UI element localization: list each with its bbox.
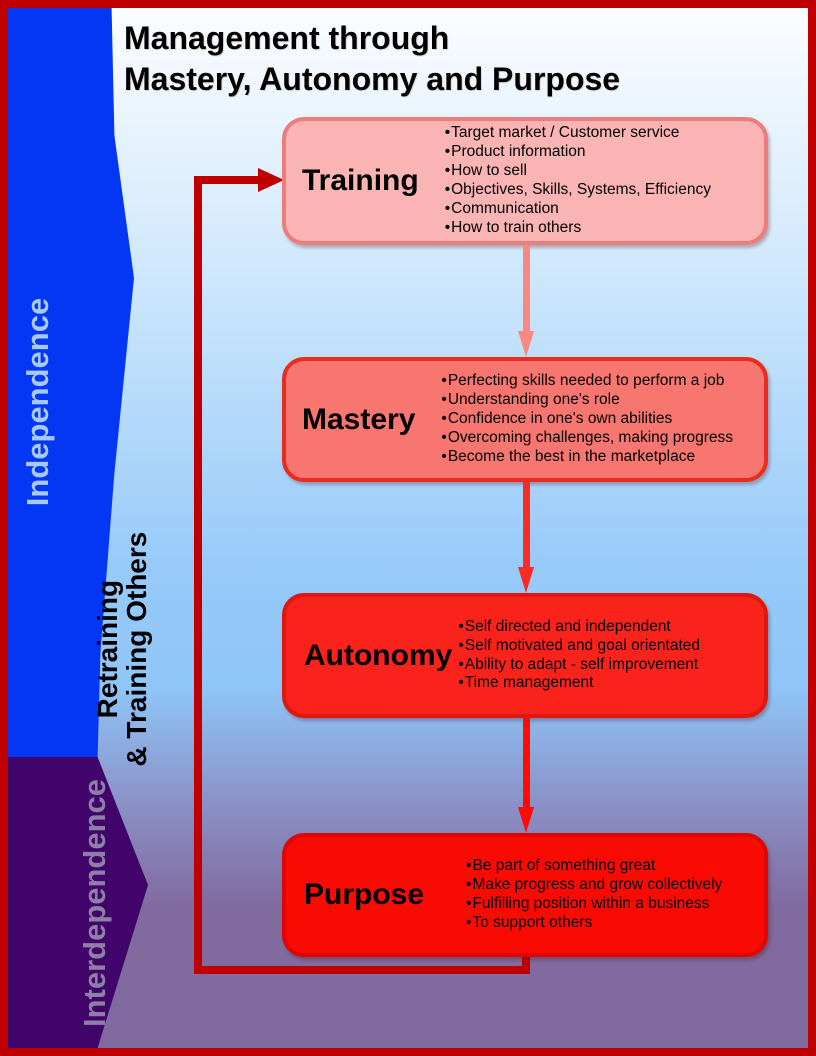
page-title-line1: Management through	[124, 18, 784, 59]
bullet-item: To support others	[466, 914, 758, 933]
arrow-training-to-mastery-icon	[518, 245, 534, 357]
bullet-item: Time management	[458, 674, 758, 693]
bullet-item: Ability to adapt - self improvement	[458, 656, 758, 675]
page-title-line2: Mastery, Autonomy and Purpose	[124, 59, 784, 100]
stage-box-purpose[interactable]: Purpose Be part of something great Make …	[282, 833, 768, 957]
bullet-item: Fulfilling position within a business	[466, 895, 758, 914]
arrow-head	[518, 567, 534, 593]
bullet-item: Confidence in one's own abilities	[441, 410, 758, 429]
arrow-autonomy-to-purpose-icon	[518, 718, 534, 833]
retraining-label: Retraining & Training Others	[93, 484, 151, 814]
bullet-item: Communication	[445, 200, 758, 219]
bullet-item: How to sell	[445, 162, 758, 181]
arrow-shaft	[523, 718, 530, 809]
stage-bullets-purpose: Be part of something great Make progress…	[424, 857, 764, 933]
stage-title-purpose: Purpose	[286, 878, 424, 912]
page-title: Management through Mastery, Autonomy and…	[124, 18, 784, 100]
bullet-item: Product information	[445, 143, 758, 162]
bullet-item: Make progress and grow collectively	[466, 876, 758, 895]
arrow-mastery-to-autonomy-icon	[518, 482, 534, 593]
stage-title-training: Training	[286, 164, 419, 198]
bullet-item: Perfecting skills needed to perform a jo…	[441, 372, 758, 391]
independence-label: Independence	[20, 272, 56, 532]
bullet-item: Self motivated and goal orientated	[458, 637, 758, 656]
retraining-label-line2: & Training Others	[122, 484, 151, 814]
bullet-item: Objectives, Skills, Systems, Efficiency	[445, 181, 758, 200]
bullet-item: Become the best in the marketplace	[441, 448, 758, 467]
arrow-head	[518, 331, 534, 357]
bullet-item: Self directed and independent	[458, 618, 758, 637]
diagram-canvas: Independence Interdependence Retraining …	[0, 0, 816, 1056]
stage-bullets-training: Target market / Customer service Product…	[419, 124, 764, 237]
bullet-item: Understanding one's role	[441, 391, 758, 410]
stage-title-mastery: Mastery	[286, 403, 415, 437]
bullet-item: Be part of something great	[466, 857, 758, 876]
stage-bullets-autonomy: Self directed and independent Self motiv…	[452, 618, 764, 694]
arrow-shaft	[523, 245, 530, 333]
bullet-item: Target market / Customer service	[445, 124, 758, 143]
bullet-item: Overcoming challenges, making progress	[441, 429, 758, 448]
stage-box-autonomy[interactable]: Autonomy Self directed and independent S…	[282, 593, 768, 718]
stage-box-mastery[interactable]: Mastery Perfecting skills needed to perf…	[282, 357, 768, 482]
stage-box-training[interactable]: Training Target market / Customer servic…	[282, 117, 768, 245]
stage-bullets-mastery: Perfecting skills needed to perform a jo…	[415, 372, 764, 467]
bullet-item: How to train others	[445, 219, 758, 238]
arrow-head	[518, 807, 534, 833]
retraining-label-line1: Retraining	[93, 484, 122, 814]
arrow-shaft	[523, 482, 530, 569]
stage-title-autonomy: Autonomy	[286, 639, 452, 673]
